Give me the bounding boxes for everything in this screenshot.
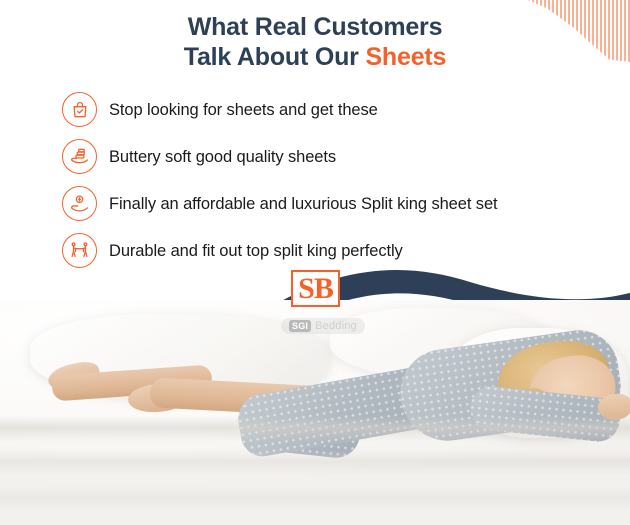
list-item: Stop looking for sheets and get these bbox=[62, 86, 622, 133]
shopping-bag-check-icon bbox=[62, 92, 97, 127]
list-item-label: Buttery soft good quality sheets bbox=[109, 147, 336, 167]
page-title: What Real Customers Talk About Our Sheet… bbox=[0, 12, 630, 72]
watermark-label: Bedding bbox=[315, 320, 357, 332]
logo-monogram: SB bbox=[298, 274, 333, 304]
title-accent-word: Sheets bbox=[365, 43, 446, 71]
watermark-badge: SGI bbox=[289, 320, 311, 332]
title-line-1: What Real Customers bbox=[0, 12, 630, 42]
sheet-fold bbox=[0, 416, 630, 442]
benefits-list: Stop looking for sheets and get these Bu… bbox=[62, 86, 622, 274]
list-item-label: Finally an affordable and luxurious Spli… bbox=[109, 194, 498, 214]
sheet-fold bbox=[0, 450, 630, 476]
hand-coin-icon bbox=[62, 186, 97, 221]
list-item-label: Stop looking for sheets and get these bbox=[109, 100, 378, 120]
promo-graphic: What Real Customers Talk About Our Sheet… bbox=[0, 0, 630, 525]
two-people-sheet-icon bbox=[62, 233, 97, 268]
hand-folded-sheets-icon bbox=[62, 139, 97, 174]
list-item: Durable and fit out top split king perfe… bbox=[62, 227, 622, 274]
watermark: SGI Bedding bbox=[281, 318, 365, 334]
title-line-2-plain: Talk About Our bbox=[184, 43, 366, 71]
list-item: Buttery soft good quality sheets bbox=[62, 133, 622, 180]
list-item: Finally an affordable and luxurious Spli… bbox=[62, 180, 622, 227]
brand-logo: SB bbox=[291, 270, 340, 307]
list-item-label: Durable and fit out top split king perfe… bbox=[109, 241, 403, 261]
sheet-fold bbox=[0, 486, 630, 512]
title-line-2: Talk About Our Sheets bbox=[0, 42, 630, 72]
